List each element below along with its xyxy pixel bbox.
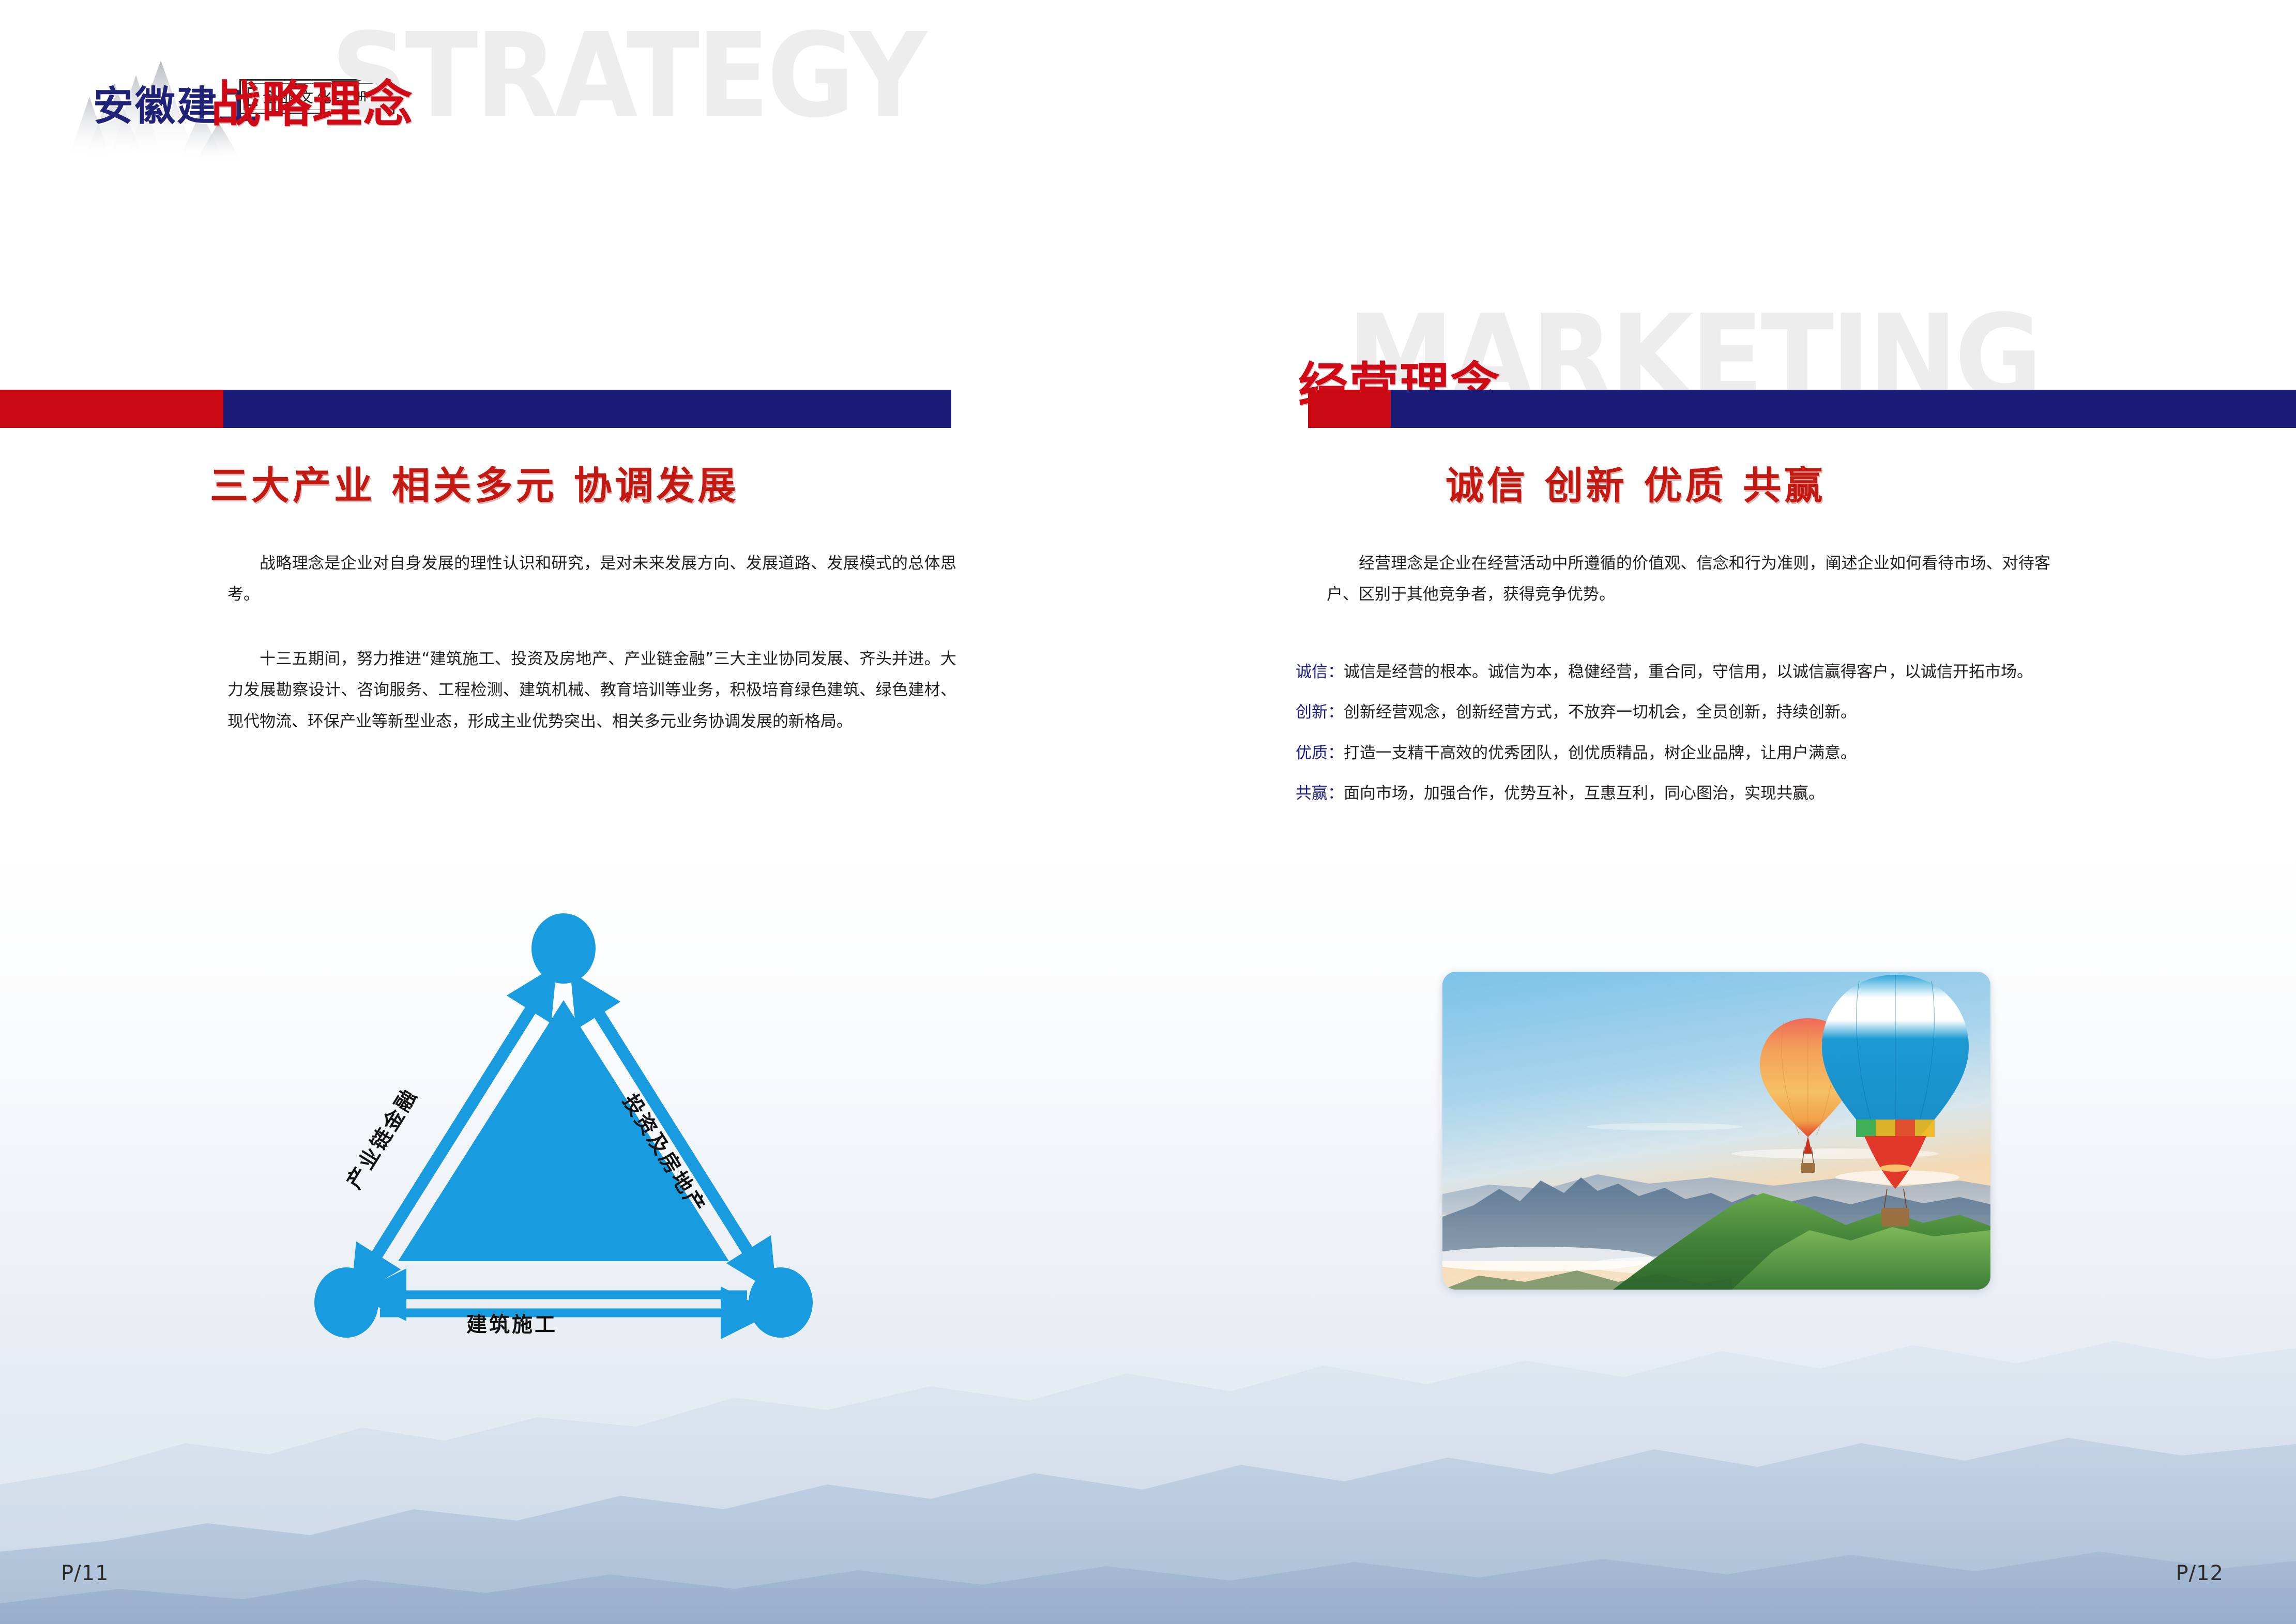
three-industries-diagram: 产业链金融 投资及房地产 建筑施工 <box>274 910 853 1354</box>
diagram-label-bottom: 建筑施工 <box>466 1308 557 1338</box>
left-section-header: STRATEGY 战略理念 <box>0 0 951 145</box>
right-page: MARKETING 经营理念 诚信 创新 优质 共赢 经营理念是企业在经营活动中… <box>1148 0 2296 1624</box>
value-description: 诚信是经营的根本。诚信为本，稳健经营，重合同，守信用，以诚信赢得客户，以诚信开拓… <box>1344 656 2056 687</box>
value-description: 打造一支精干高效的优秀团队，创优质精品，树企业品牌，让用户满意。 <box>1344 738 2056 769</box>
left-page: STRATEGY 战略理念 三大产业 相关多元 协调发展 战略理念是企业对自身发… <box>0 0 1148 1624</box>
photo-graphic <box>1442 972 1990 1290</box>
left-page-number: P/11 <box>61 1561 109 1585</box>
right-bar-red-segment <box>1308 390 1391 428</box>
right-header-bar <box>1308 390 2296 428</box>
business-values-list: 诚信： 诚信是经营的根本。诚信为本，稳健经营，重合同，守信用，以诚信赢得客户，以… <box>1296 656 2056 819</box>
left-paragraph-1: 战略理念是企业对自身发展的理性认识和研究，是对未来发展方向、发展道路、发展模式的… <box>227 548 956 610</box>
value-description: 面向市场，加强合作，优势互补，互惠互利，同心图治，实现共赢。 <box>1344 778 2056 809</box>
value-description: 创新经营观念，创新经营方式，不放弃一切机会，全员创新，持续创新。 <box>1344 697 2056 728</box>
hot-air-balloon-photo <box>1442 972 1990 1290</box>
left-bar-red-segment <box>0 390 223 428</box>
value-term: 诚信： <box>1296 656 1344 687</box>
right-paragraph-1: 经营理念是企业在经营活动中所遵循的价值观、信念和行为准则，阐述企业如何看待市场、… <box>1327 548 2050 610</box>
right-slogan: 诚信 创新 优质 共赢 <box>1446 455 1826 510</box>
left-header-bar <box>0 390 951 428</box>
diagram-graphic <box>274 910 853 1354</box>
list-item: 优质： 打造一支精干高效的优秀团队，创优质精品，树企业品牌，让用户满意。 <box>1296 738 2056 769</box>
value-term: 创新： <box>1296 697 1344 728</box>
list-item: 创新： 创新经营观念，创新经营方式，不放弃一切机会，全员创新，持续创新。 <box>1296 697 2056 728</box>
left-section-title: 战略理念 <box>211 80 414 129</box>
list-item: 共赢： 面向市场，加强合作，优势互补，互惠互利，同心图治，实现共赢。 <box>1296 778 2056 809</box>
right-page-number: P/12 <box>2176 1561 2224 1585</box>
page-canvas: 安徽建工 企业文化手册 STRATEGY 战略理念 三大产业 相关多元 协调 <box>0 0 2296 1624</box>
right-bar-navy-segment <box>1391 390 2296 428</box>
value-term: 共赢： <box>1296 778 1344 809</box>
value-term: 优质： <box>1296 738 1344 769</box>
left-paragraph-2: 十三五期间，努力推进“建筑施工、投资及房地产、产业链金融”三大主业协同发展、齐头… <box>227 644 956 737</box>
left-watermark: STRATEGY <box>331 18 924 134</box>
left-bar-navy-segment <box>223 390 951 428</box>
list-item: 诚信： 诚信是经营的根本。诚信为本，稳健经营，重合同，守信用，以诚信赢得客户，以… <box>1296 656 2056 687</box>
diagram-node-top <box>531 913 596 984</box>
left-slogan: 三大产业 相关多元 协调发展 <box>210 455 739 510</box>
